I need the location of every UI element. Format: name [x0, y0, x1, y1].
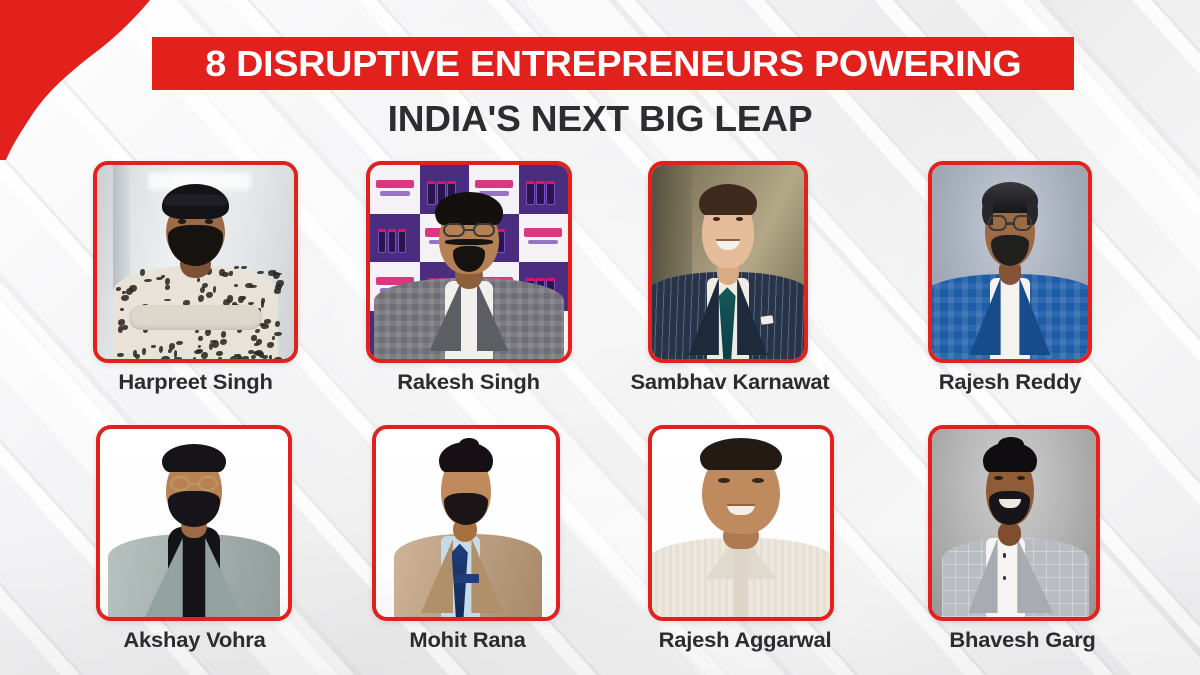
portrait-frame[interactable]: [366, 161, 572, 363]
portrait-frame[interactable]: [372, 425, 560, 621]
entrepreneur-name: Harpreet Singh: [60, 370, 330, 395]
portrait-frame[interactable]: [648, 161, 808, 363]
portrait-photo: [97, 165, 294, 359]
entrepreneur-name: Rakesh Singh: [333, 370, 603, 395]
portrait-photo: [932, 429, 1096, 617]
portrait-frame[interactable]: [93, 161, 298, 363]
portrait-photo: [652, 429, 830, 617]
entrepreneur-name: Rajesh Reddy: [877, 370, 1142, 395]
entrepreneur-grid: Harpreet SinghRakesh SinghSambhav Karnaw…: [0, 0, 1200, 675]
entrepreneur-name: Mohit Rana: [337, 628, 597, 653]
portrait-photo: [370, 165, 568, 359]
portrait-frame[interactable]: [96, 425, 292, 621]
portrait-frame[interactable]: [648, 425, 834, 621]
portrait-photo: [652, 165, 804, 359]
entrepreneur-name: Akshay Vohra: [59, 628, 329, 653]
portrait-frame[interactable]: [928, 425, 1100, 621]
portrait-frame[interactable]: [928, 161, 1092, 363]
entrepreneur-name: Bhavesh Garg: [898, 628, 1148, 653]
portrait-photo: [932, 165, 1088, 359]
portrait-photo: [100, 429, 288, 617]
entrepreneur-name: Sambhav Karnawat: [597, 370, 862, 395]
portrait-photo: [376, 429, 556, 617]
entrepreneur-name: Rajesh Aggarwal: [618, 628, 873, 653]
